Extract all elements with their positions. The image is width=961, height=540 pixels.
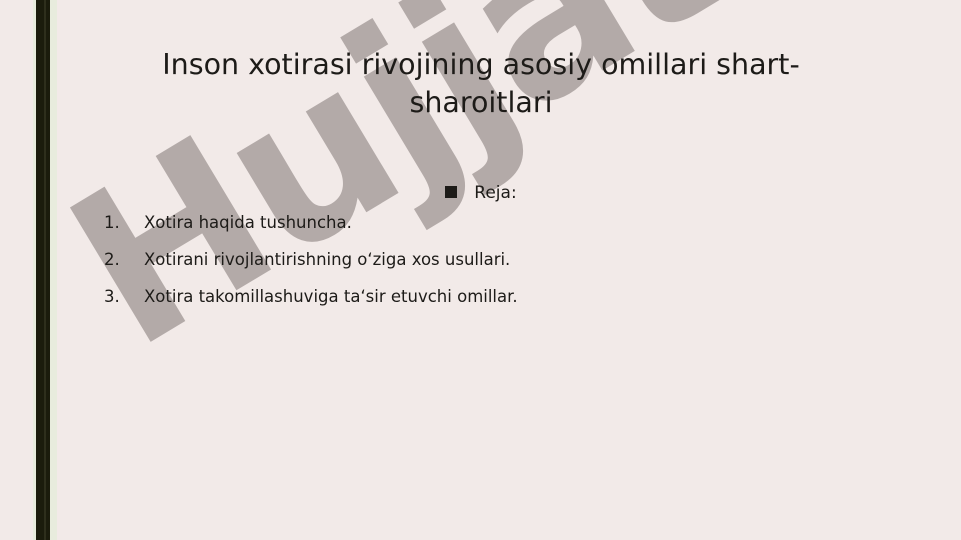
agenda-list: 1.Xotira haqida tushuncha. 2.Xotirani ri… — [104, 212, 864, 323]
list-item-number: 2. — [104, 249, 144, 271]
list-item-text: Xotirani rivojlantirishning o‘ziga xos u… — [144, 249, 510, 271]
list-item: 1.Xotira haqida tushuncha. — [104, 212, 864, 234]
left-accent-bar — [36, 0, 50, 540]
list-item-number: 1. — [104, 212, 144, 234]
list-item: 3.Xotira takomillashuviga ta‘sir etuvchi… — [104, 286, 864, 308]
list-item: 2.Xotirani rivojlantirishning o‘ziga xos… — [104, 249, 864, 271]
left-accent-bar-highlight — [44, 0, 46, 540]
slide-title: Inson xotirasi rivojining asosiy omillar… — [96, 46, 866, 122]
square-bullet-icon — [445, 186, 457, 198]
watermark-word-24: 24 — [624, 0, 961, 39]
presentation-slide: Hujjat24 Inson xotirasi rivojining asosi… — [0, 0, 961, 540]
list-item-text: Xotira haqida tushuncha. — [144, 212, 352, 234]
agenda-heading-label: Reja: — [474, 182, 516, 204]
agenda-heading-row: Reja: — [96, 182, 866, 204]
list-item-text: Xotira takomillashuviga ta‘sir etuvchi o… — [144, 286, 518, 308]
list-item-number: 3. — [104, 286, 144, 308]
